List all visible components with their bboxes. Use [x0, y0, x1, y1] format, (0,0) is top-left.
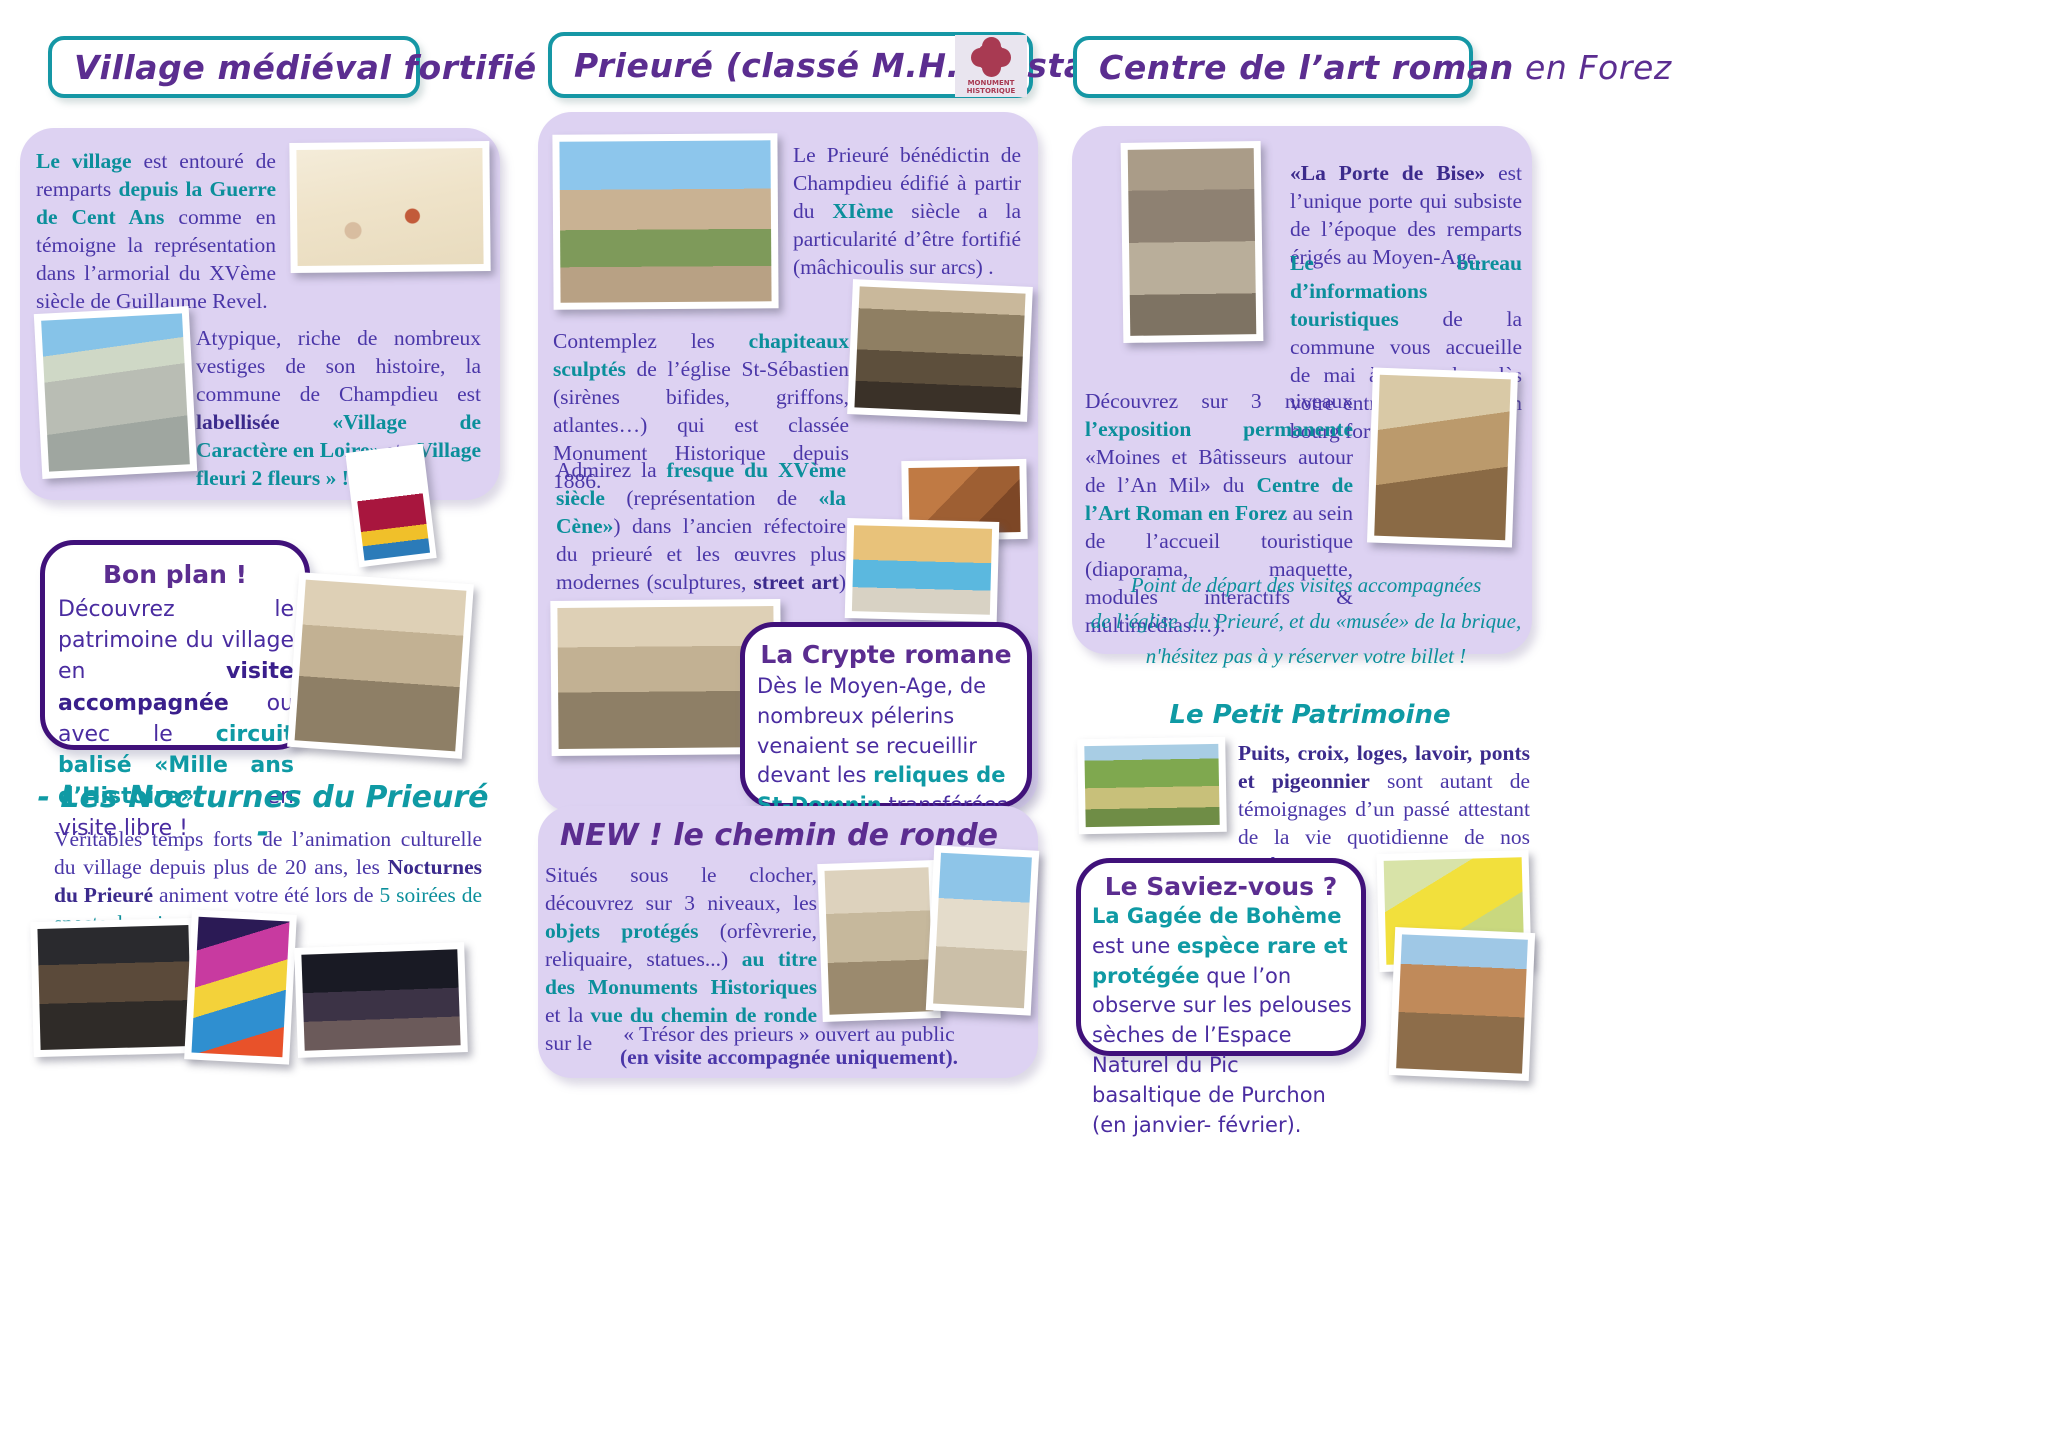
photo-eglise-nuit: [30, 918, 198, 1057]
photo-street-art: [845, 518, 1000, 622]
label-village-caractere: [345, 444, 436, 568]
porte-de-bise-image: [1128, 148, 1257, 336]
quatrefoil-icon: [971, 37, 1011, 77]
statue-image: [825, 867, 934, 1015]
affiche-nocturnes-image: [192, 917, 290, 1058]
photo-nef: [847, 279, 1033, 422]
saviez-vous-title: Le Saviez-vous ?: [1076, 872, 1366, 901]
header-col2-title: Prieuré (classé M.H.) restauré: [574, 46, 1151, 85]
header-col1-title: Village médiéval fortifié: [74, 48, 537, 87]
rue-fleurie-image: [41, 313, 190, 471]
saviez-vous-text: La Gagée de Bohème est une espèce rare e…: [1092, 902, 1354, 1141]
brochure-page: Village médiéval fortifié Prieuré (class…: [0, 0, 2048, 1448]
header-col3: Centre de l’art roman en Forez: [1073, 36, 1473, 98]
village-caractere-label-image: [352, 450, 430, 560]
col2-paragraph-1: Le Prieuré bénédictin de Champdieu édifi…: [793, 142, 1021, 282]
header-col1: Village médiéval fortifié: [48, 36, 420, 98]
point-depart-text: Point de départ des visites accompagnées…: [1086, 568, 1526, 675]
photo-campagne: [1077, 737, 1227, 835]
bon-plan-title: Bon plan !: [40, 560, 310, 589]
photo-prieure: [552, 133, 778, 310]
crypte-title: La Crypte romane: [740, 640, 1032, 669]
chemin-ronde-image: [933, 853, 1032, 1009]
point-depart-line-3: n'hésitez pas à y réserver votre billet …: [1086, 639, 1526, 675]
photo-armorial: [289, 141, 490, 273]
col1-paragraph-1: Le village est entouré de remparts depui…: [36, 148, 276, 316]
photo-rue-fleurie: [34, 306, 197, 479]
photo-exposition: [1367, 368, 1518, 548]
header-col3-title: Centre de l’art roman en Forez: [1099, 48, 1672, 87]
photo-panorama: [1389, 927, 1535, 1081]
point-depart-line-1: Point de départ des visites accompagnées: [1086, 568, 1526, 604]
photo-chemin-ronde: [926, 845, 1039, 1015]
petit-patrimoine-title: Le Petit Patrimoine: [1090, 700, 1530, 730]
exposition-image: [1374, 375, 1511, 540]
photo-public-spectacle: [294, 942, 468, 1058]
chemin-footnote-2: (en visite accompagnée uniquement).: [556, 1044, 1022, 1072]
point-depart-line-2: de l’église, du Prieuré, et du «musée» d…: [1086, 604, 1526, 640]
nef-image: [854, 286, 1025, 414]
eglise-nuit-image: [37, 925, 191, 1050]
cloitre-image: [295, 580, 467, 752]
mh-logo-text: MONUMENT HISTORIQUE: [967, 80, 1016, 95]
photo-porte-de-bise: [1121, 141, 1264, 343]
col1-paragraph-2: Atypique, riche de nombreux vestiges de …: [196, 325, 481, 493]
monument-historique-logo: MONUMENT HISTORIQUE: [955, 35, 1027, 97]
campagne-image: [1084, 744, 1219, 827]
photo-cloitre: [287, 572, 474, 759]
panorama-image: [1396, 934, 1528, 1073]
public-spectacle-image: [301, 949, 460, 1050]
photo-statue: [817, 860, 940, 1022]
armorial-image: [296, 148, 483, 266]
street-art-image: [852, 525, 992, 615]
prieure-image: [559, 140, 771, 302]
photo-affiche-nocturnes: [184, 909, 297, 1064]
